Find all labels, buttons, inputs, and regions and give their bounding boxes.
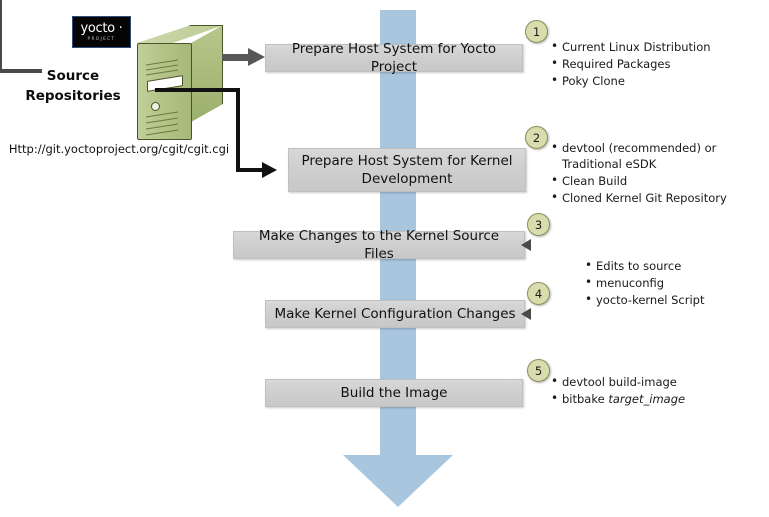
step-badge-2: 2: [525, 126, 548, 149]
step1-bullet-list: Current Linux Distribution Required Pack…: [551, 39, 711, 90]
server-side-panel: [191, 25, 223, 122]
list-item-line2: Traditional eSDK: [562, 156, 727, 172]
process-box-prepare-host-yocto[interactable]: Prepare Host System for Yocto Project: [265, 44, 523, 72]
connector-server-to-step1-arrowhead: [248, 48, 265, 66]
server-vents: [138, 44, 193, 141]
list-item: Cloned Kernel Git Repository: [551, 190, 727, 206]
step-badge-5: 5: [527, 359, 550, 382]
server-vent-line: [146, 111, 178, 117]
connector-server-to-step2-arrowhead: [262, 162, 277, 178]
connector-server-to-step1: [222, 54, 250, 61]
list-item-line1: devtool (recommended) or: [562, 141, 716, 155]
process-box-prepare-host-kernel[interactable]: Prepare Host System for Kernel Developme…: [288, 148, 526, 192]
connector-server-to-step2-segment: [155, 88, 240, 92]
process-box-make-kernel-source-changes[interactable]: Make Changes to the Kernel Source Files: [233, 231, 525, 259]
server-tower-icon: [137, 25, 225, 140]
server-vent-line: [146, 69, 178, 75]
list-item: devtool build-image: [551, 374, 685, 390]
source-label-line1: Source: [47, 68, 99, 84]
source-repositories-label: Source Repositories: [8, 66, 138, 106]
source-repository-url: Http://git.yoctoproject.org/cgit/cgit.cg…: [4, 142, 234, 156]
step-badge-4: 4: [527, 282, 550, 305]
connector-server-to-step2-segment: [236, 88, 240, 172]
step-badge-3: 3: [527, 213, 550, 236]
source-label-line2: Repositories: [25, 88, 120, 104]
bitbake-target-image-arg: target_image: [608, 392, 685, 406]
list-item: Edits to source: [585, 258, 705, 274]
server-vent-line: [146, 129, 178, 135]
list-item: Required Packages: [551, 56, 711, 72]
step3-step4-bullet-list: Edits to source menuconfig yocto-kernel …: [585, 258, 705, 309]
step-badge-1: 1: [525, 20, 548, 43]
process-box-make-kernel-config-changes[interactable]: Make Kernel Configuration Changes: [265, 300, 525, 328]
step2-bullet-list: devtool (recommended) or Traditional eSD…: [551, 140, 727, 207]
list-item: Clean Build: [551, 173, 727, 189]
diagram-canvas: yocto · PROJECT Source Repositories Http…: [0, 0, 769, 517]
process-box-2-line2: Development: [362, 171, 453, 187]
server-vent-line: [146, 123, 178, 129]
step5-bullet-list: devtool build-image bitbake target_image: [551, 374, 685, 408]
list-item: bitbake target_image: [551, 391, 685, 407]
bracket-arrowhead-step3: [521, 239, 531, 251]
bracket-connector-vertical: [0, 0, 2, 69]
server-vent-line: [146, 117, 178, 123]
list-item: menuconfig: [585, 275, 705, 291]
list-item: yocto-kernel Script: [585, 292, 705, 308]
bitbake-command: bitbake: [562, 392, 608, 406]
process-box-2-line1: Prepare Host System for Kernel: [301, 153, 512, 169]
list-item: Poky Clone: [551, 73, 711, 89]
yocto-logo-wordmark: yocto ·: [80, 22, 122, 35]
server-power-button: [151, 102, 160, 111]
yocto-logo-subtext: PROJECT: [88, 35, 116, 42]
process-box-build-the-image[interactable]: Build the Image: [265, 379, 523, 407]
flow-arrow-head: [343, 455, 453, 507]
list-item: Current Linux Distribution: [551, 39, 711, 55]
bracket-arrowhead-step4: [521, 308, 531, 320]
list-item: devtool (recommended) or Traditional eSD…: [551, 140, 727, 172]
yocto-project-logo: yocto · PROJECT: [72, 16, 131, 48]
